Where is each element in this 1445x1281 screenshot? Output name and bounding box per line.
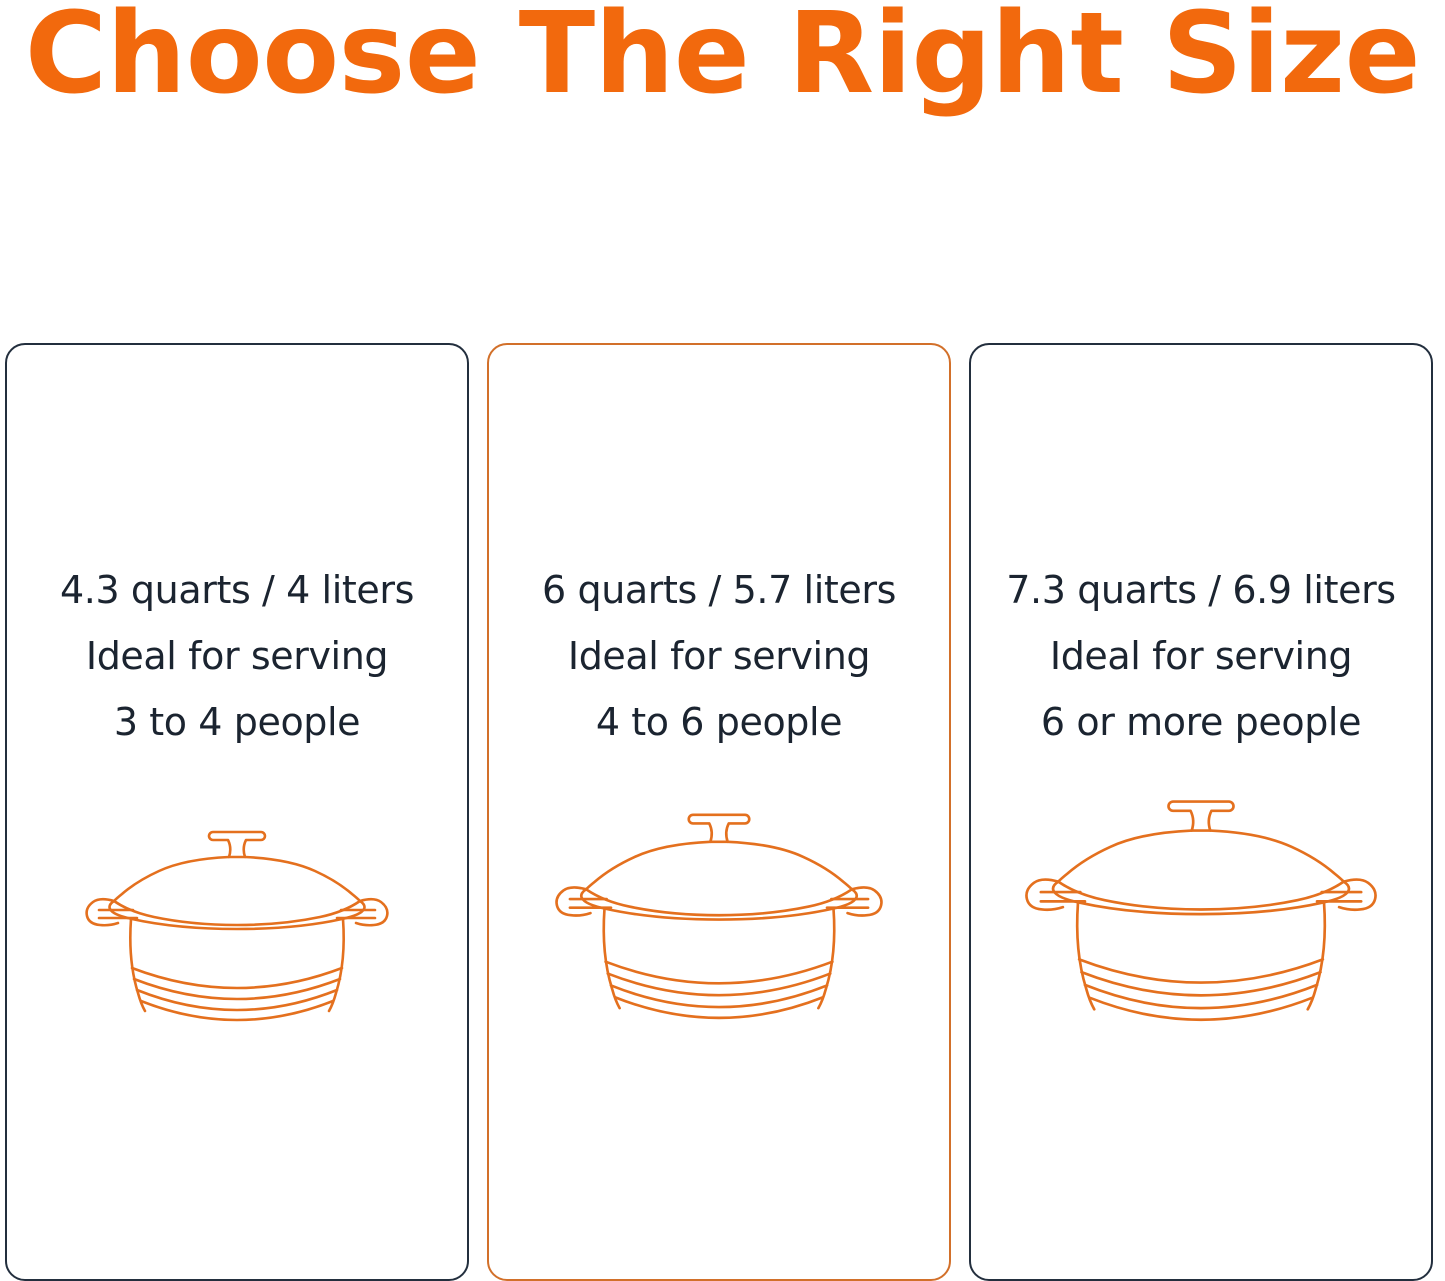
capacity-label: 7.3 quarts / 6.9 liters xyxy=(971,557,1431,623)
dutch-oven-pot-icon xyxy=(971,743,1431,1025)
dutch-oven-pot-icon xyxy=(489,755,949,1023)
serving-prefix-label: Ideal for serving xyxy=(971,623,1431,689)
size-card-row: 4.3 quarts / 4 liters Ideal for serving … xyxy=(5,343,1433,1281)
capacity-label: 4.3 quarts / 4 liters xyxy=(7,557,467,623)
size-card-small-text: 4.3 quarts / 4 liters Ideal for serving … xyxy=(7,557,467,755)
size-card-small[interactable]: 4.3 quarts / 4 liters Ideal for serving … xyxy=(5,343,469,1281)
capacity-label: 6 quarts / 5.7 liters xyxy=(489,557,949,623)
dutch-oven-pot-icon xyxy=(7,777,467,1022)
serving-count-label: 4 to 6 people xyxy=(489,689,949,755)
size-guide-infographic: Choose The Right Size 4.3 quarts / 4 lit… xyxy=(0,0,1445,1281)
size-card-medium[interactable]: 6 quarts / 5.7 liters Ideal for serving … xyxy=(487,343,951,1281)
serving-count-label: 3 to 4 people xyxy=(7,689,467,755)
size-card-large-text: 7.3 quarts / 6.9 liters Ideal for servin… xyxy=(971,557,1431,755)
size-card-large[interactable]: 7.3 quarts / 6.9 liters Ideal for servin… xyxy=(969,343,1433,1281)
page-title: Choose The Right Size xyxy=(0,0,1445,112)
serving-prefix-label: Ideal for serving xyxy=(7,623,467,689)
serving-prefix-label: Ideal for serving xyxy=(489,623,949,689)
size-card-medium-text: 6 quarts / 5.7 liters Ideal for serving … xyxy=(489,557,949,755)
